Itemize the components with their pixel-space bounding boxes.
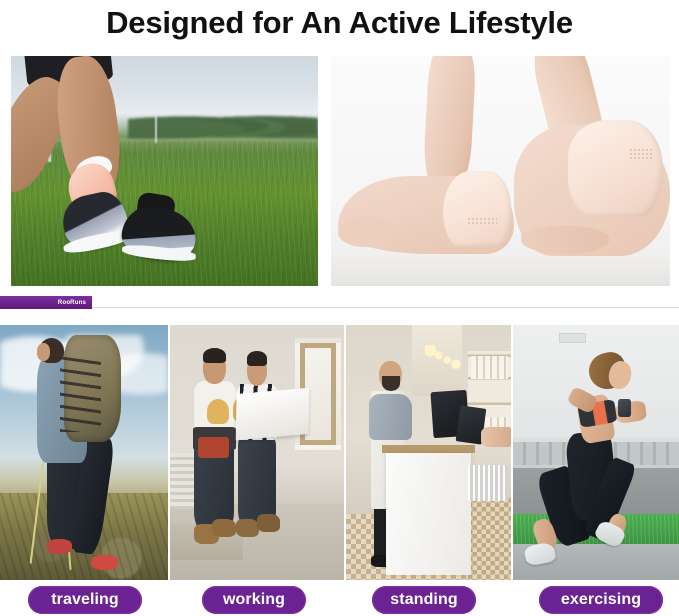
worker1-boot-right [212,519,236,537]
photo-working [170,325,344,580]
wire-basket [468,465,508,501]
goalpost-far [155,114,157,144]
left-foot-toes [338,217,389,247]
right-foot-toes [521,226,609,254]
brand-name: RooRuns [58,300,86,306]
worker1-hair [203,348,226,363]
brand-separator: RooRuns [0,296,679,309]
top-photo-row [0,56,679,286]
blueprint-sheet [236,388,310,441]
badge-exercising: exercising [539,586,663,614]
left-heel-sleeve [443,171,511,247]
right-sleeve-vent-holes [629,148,653,160]
counter-wood-top [382,445,474,453]
photo-traveling [0,325,168,580]
badge-working: working [202,586,306,614]
worker2-boot-right [257,514,280,532]
phone-armband [618,399,631,417]
photo-bare-feet-heel-sleeves [331,56,670,286]
page-title: Designed for An Active Lifestyle [0,0,679,46]
photo-standing [346,325,511,580]
worker-arm [369,394,412,440]
backpack-straps [60,356,100,433]
use-case-badge-row: traveling working standing exercising [0,586,679,616]
wall-sign [559,333,586,343]
track-lights [425,345,461,371]
studio-floor [331,254,670,286]
badge-traveling: traveling [28,586,142,614]
right-heel-sleeve [568,120,663,217]
left-sleeve-vent-holes [467,217,498,226]
worker1-tool-pouch [198,437,229,457]
hiking-shoe-right [91,555,118,570]
separator-rule [92,307,679,308]
hard-hat-yellow-left [207,399,230,425]
brand-badge: RooRuns [0,296,92,309]
badge-standing: standing [372,586,476,614]
worker2-boot-left [236,519,259,537]
white-counter [386,453,472,575]
worker2-hair [247,351,268,366]
customer-hand [481,427,511,447]
photo-exercising [513,325,679,580]
photo-man-walking-grass-field [11,56,318,286]
hiking-shoe-left [47,539,72,554]
hiker-face [37,343,50,361]
shelf-jars-top [471,356,507,379]
patterned-floor-tiles-right [468,498,511,580]
bottom-photo-row [0,325,679,580]
